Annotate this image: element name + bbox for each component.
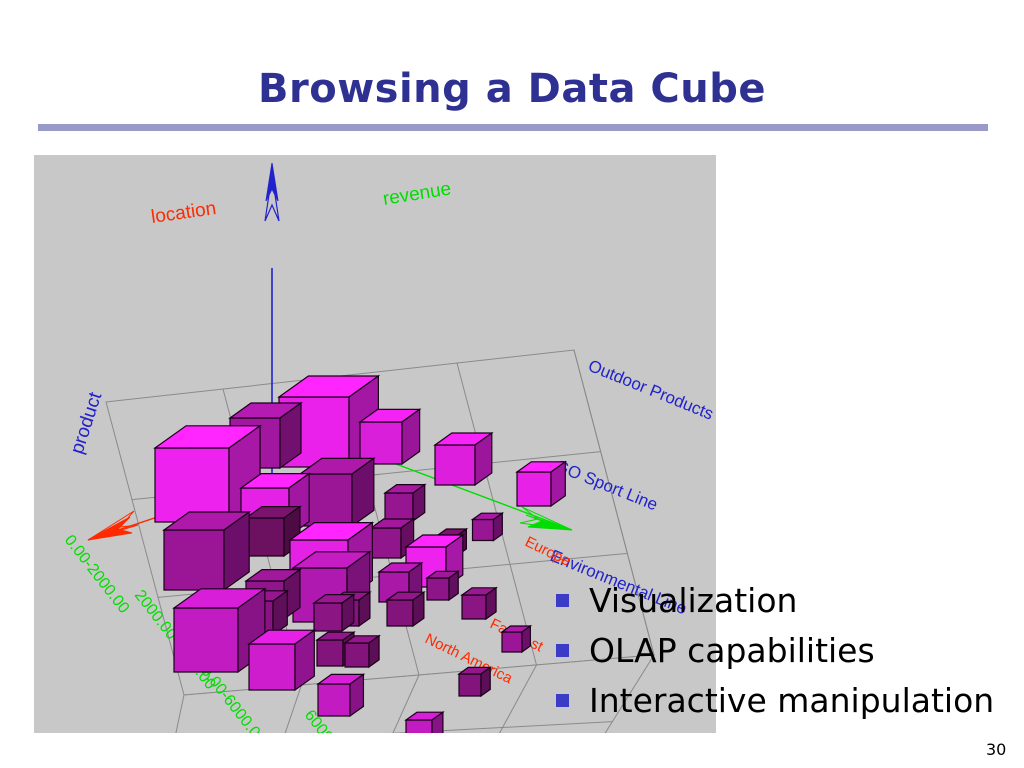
data-cube[interactable] (300, 458, 374, 526)
data-cube[interactable] (462, 588, 496, 619)
data-cube[interactable] (314, 595, 354, 631)
bullet-square-icon (556, 694, 569, 707)
data-cube[interactable] (406, 712, 443, 733)
list-item[interactable]: Interactive manipulation (556, 675, 1024, 725)
cube-front-face (246, 518, 284, 556)
page-title: Browsing a Data Cube (0, 66, 1024, 112)
bullet-square-icon (556, 644, 569, 657)
title-divider (38, 124, 988, 131)
data-cube[interactable] (360, 409, 420, 464)
cube-front-face (314, 603, 342, 631)
cube-front-face (155, 448, 229, 522)
cube-front-face (406, 720, 432, 733)
cube-front-face (473, 520, 494, 541)
cube-front-face (462, 595, 486, 619)
data-cube[interactable] (345, 636, 379, 667)
bullet-square-icon (556, 594, 569, 607)
data-cube[interactable] (473, 513, 503, 540)
slide-root: Browsing a Data Cube locationrevenueprod… (0, 0, 1024, 768)
list-item[interactable]: Visualization (556, 575, 1024, 625)
data-cube[interactable] (459, 667, 490, 696)
bullet-label: OLAP capabilities (589, 634, 875, 667)
cube-front-face (385, 493, 413, 521)
data-cube[interactable] (318, 674, 363, 716)
cube-front-face (427, 578, 449, 600)
bullet-list: Visualization OLAP capabilities Interact… (556, 575, 1024, 725)
list-item[interactable]: OLAP capabilities (556, 625, 1024, 675)
data-cube[interactable] (517, 462, 565, 506)
cube-front-face (345, 643, 369, 667)
bullet-label: Interactive manipulation (589, 684, 994, 717)
cube-front-face (517, 472, 551, 506)
data-cube[interactable] (427, 571, 458, 600)
data-cube[interactable] (164, 512, 249, 590)
page-number: 30 (986, 740, 1006, 759)
cube-front-face (459, 674, 481, 696)
cube-front-face (387, 600, 413, 626)
bullet-label: Visualization (589, 584, 797, 617)
cube-front-face (249, 644, 295, 690)
data-cube[interactable] (502, 626, 530, 652)
cube-front-face (318, 684, 350, 716)
cube-front-face (317, 640, 343, 666)
cube-front-face (435, 445, 475, 485)
cube-front-face (174, 608, 238, 672)
data-cube[interactable] (385, 485, 425, 521)
data-cube[interactable] (387, 592, 424, 626)
cube-front-face (502, 632, 522, 652)
data-cube[interactable] (435, 433, 492, 485)
cube-front-face (164, 530, 224, 590)
cube-front-face (371, 528, 401, 558)
cube-front-face (360, 422, 402, 464)
data-cube[interactable] (249, 630, 314, 690)
